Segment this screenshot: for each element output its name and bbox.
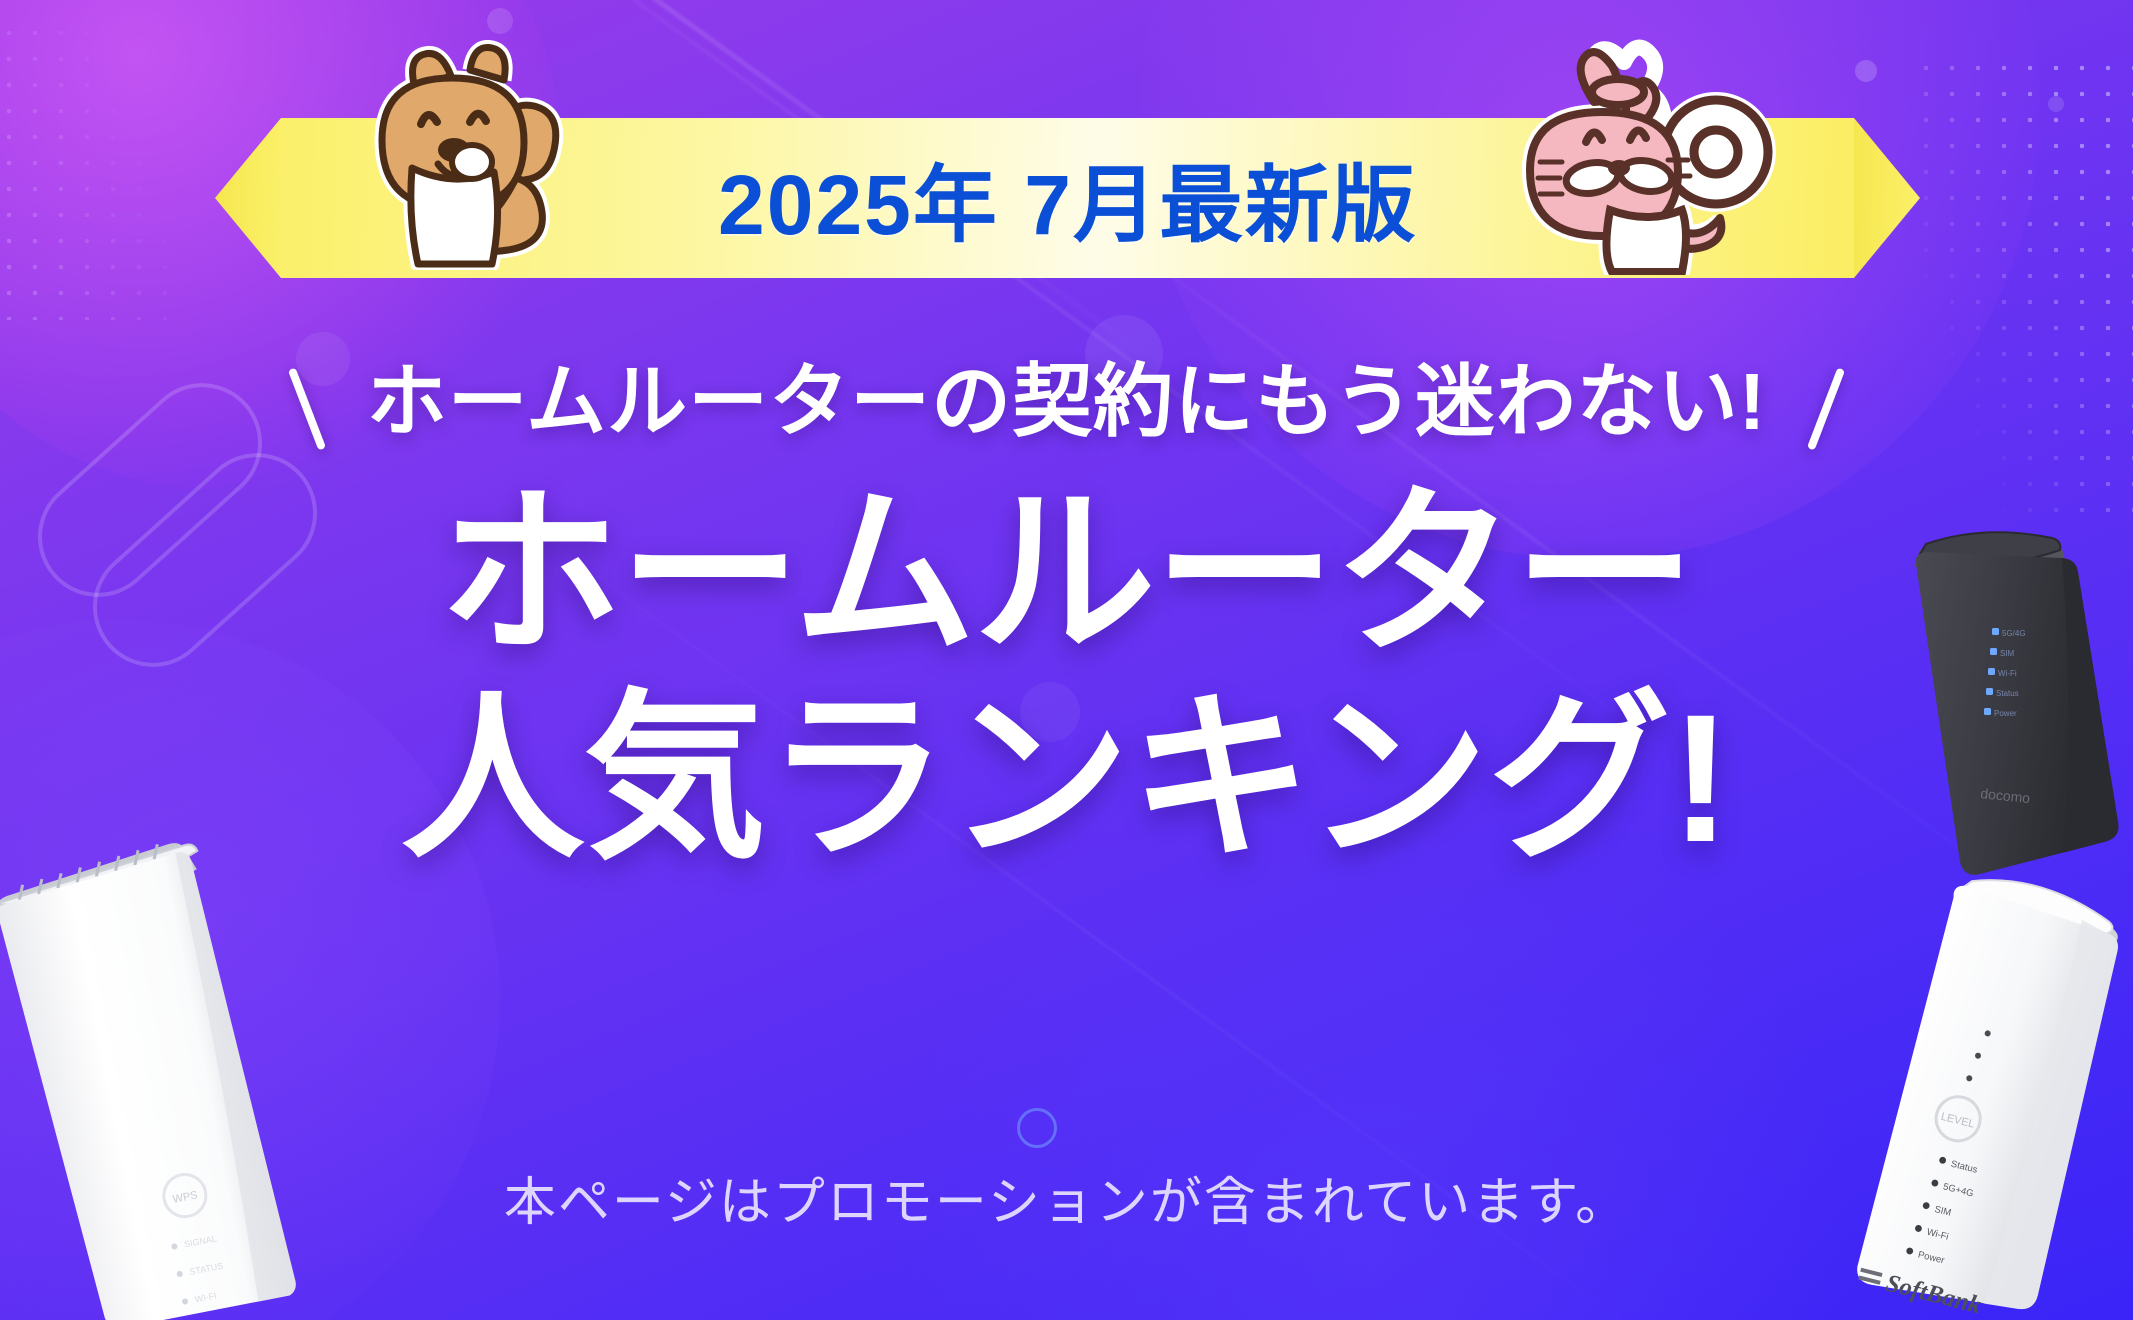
svg-text:5G/4G: 5G/4G <box>2002 629 2026 638</box>
home-router-dark-docomo: 5G/4GSIM Wi-FiStatus Power docomo <box>1880 520 2133 880</box>
headline-title: ホームルーター 人気ランキング! <box>0 471 2133 882</box>
home-router-white-left: WPS SIGNALSTATUSWI-FI <box>0 816 333 1320</box>
dog-mascot <box>320 40 600 270</box>
rabbit-mascot <box>1500 20 1800 275</box>
headline-title-line1: ホームルーター <box>0 471 2133 677</box>
decorative-bubble <box>487 8 513 34</box>
slash-decoration-left <box>287 367 325 450</box>
svg-text:SIM: SIM <box>2000 649 2015 658</box>
svg-text:Power: Power <box>1994 709 2017 718</box>
svg-text:Status: Status <box>1996 689 2019 698</box>
hero-banner: 2025年 7月最新版 <box>0 0 2133 1320</box>
ribbon-tail-right <box>1854 118 1920 278</box>
headline-subtitle-wrapper: ホームルーターの契約にもう迷わない! <box>367 360 1767 445</box>
decorative-bubble-outline <box>1017 1108 1057 1148</box>
decorative-bubble <box>2048 96 2064 112</box>
headline-title-line2: 人気ランキング! <box>0 676 2133 882</box>
home-router-white-softbank: LEVEL Status5G+4G SIMWi-FiPower SoftBank <box>1794 836 2133 1320</box>
ribbon-tail-left <box>215 118 281 278</box>
headline-subtitle: ホームルーターの契約にもう迷わない! <box>367 357 1767 446</box>
decorative-bubble <box>1855 60 1877 82</box>
headline-block: ホームルーターの契約にもう迷わない! ホームルーター 人気ランキング! <box>0 360 2133 882</box>
svg-text:Wi-Fi: Wi-Fi <box>1998 669 2017 678</box>
slash-decoration-right <box>1807 367 1845 450</box>
